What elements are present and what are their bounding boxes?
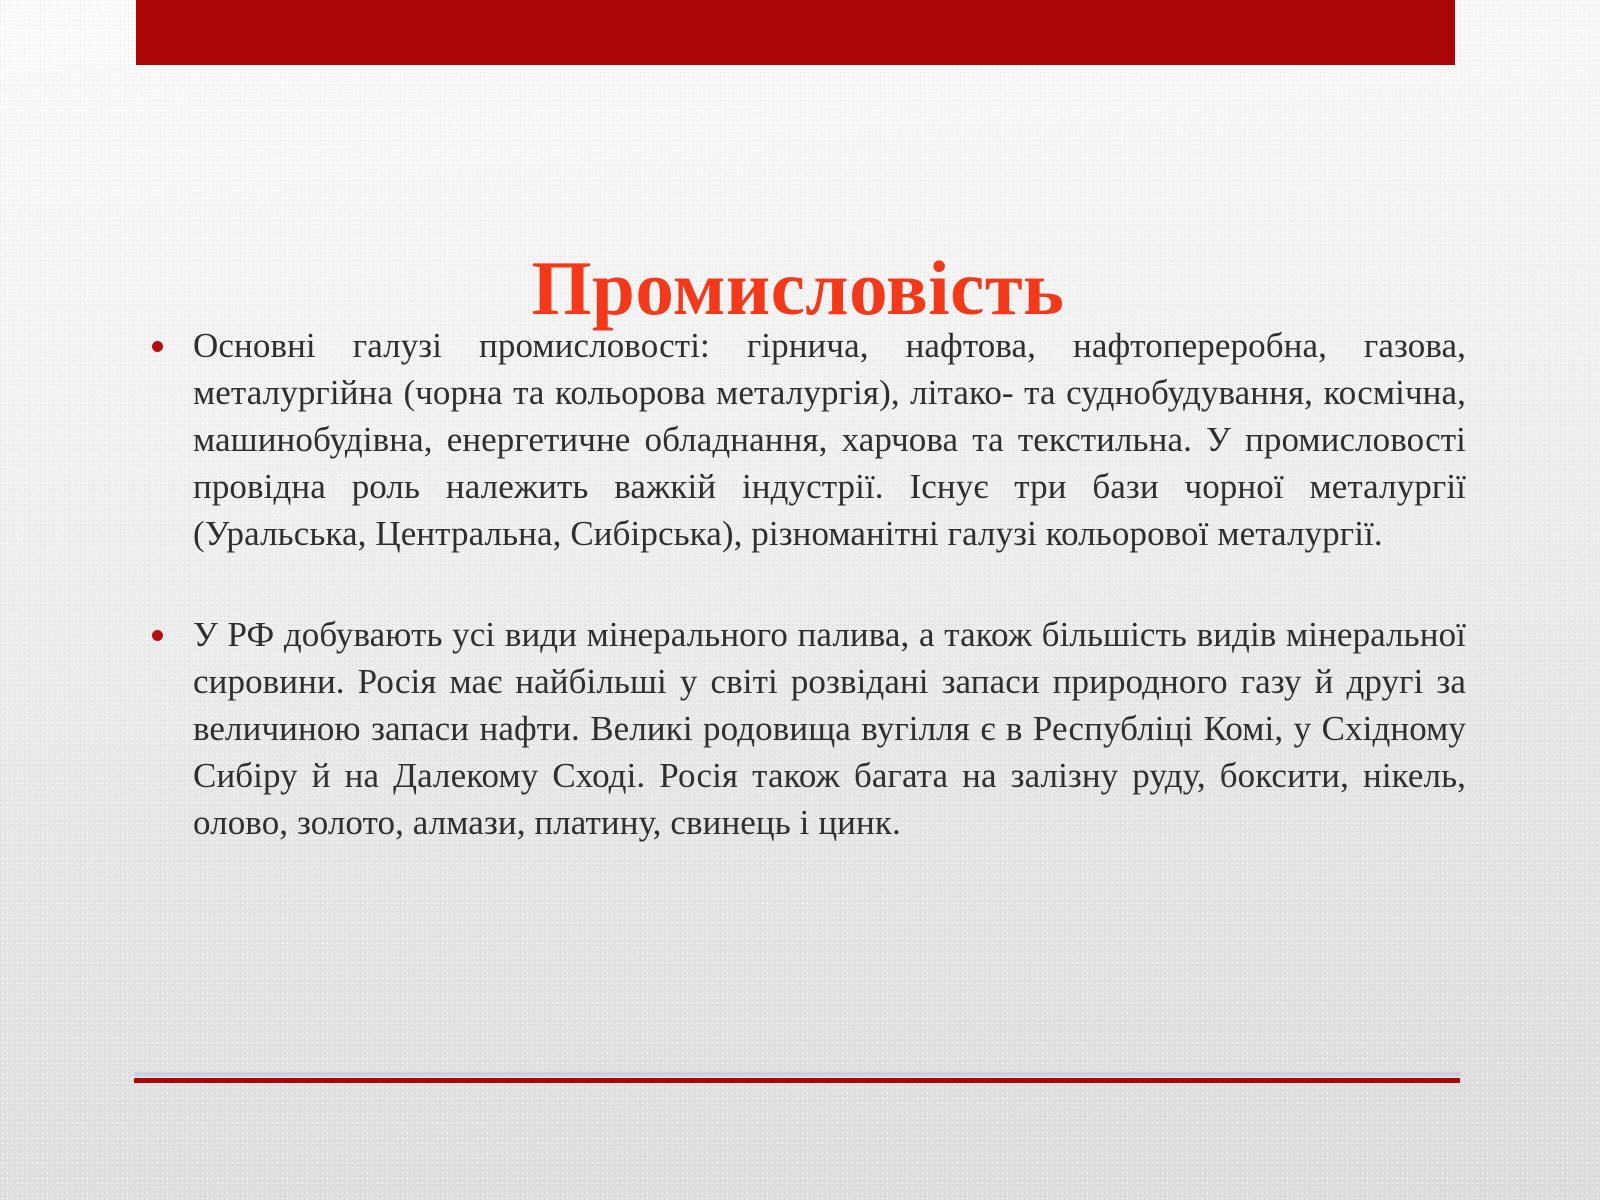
bullet-paragraph-text: У РФ добувають усі види мінерального пал… [193,611,1466,846]
bullet-dot-icon [152,341,163,352]
footer-divider-light [134,1072,1460,1076]
presentation-slide: Промисловість Основні галузі промисловос… [0,0,1600,1200]
page-title: Промисловість [532,248,1065,329]
footer-divider-accent [134,1078,1460,1083]
list-item: Основні галузі промисловості: гірнича, н… [136,322,1466,557]
bullet-dot-icon [152,630,163,641]
top-accent-band [136,0,1455,65]
slide-body: Основні галузі промисловості: гірнича, н… [136,322,1466,846]
list-item: У РФ добувають усі види мінерального пал… [136,611,1466,846]
bullet-paragraph-text: Основні галузі промисловості: гірнича, н… [193,322,1466,557]
